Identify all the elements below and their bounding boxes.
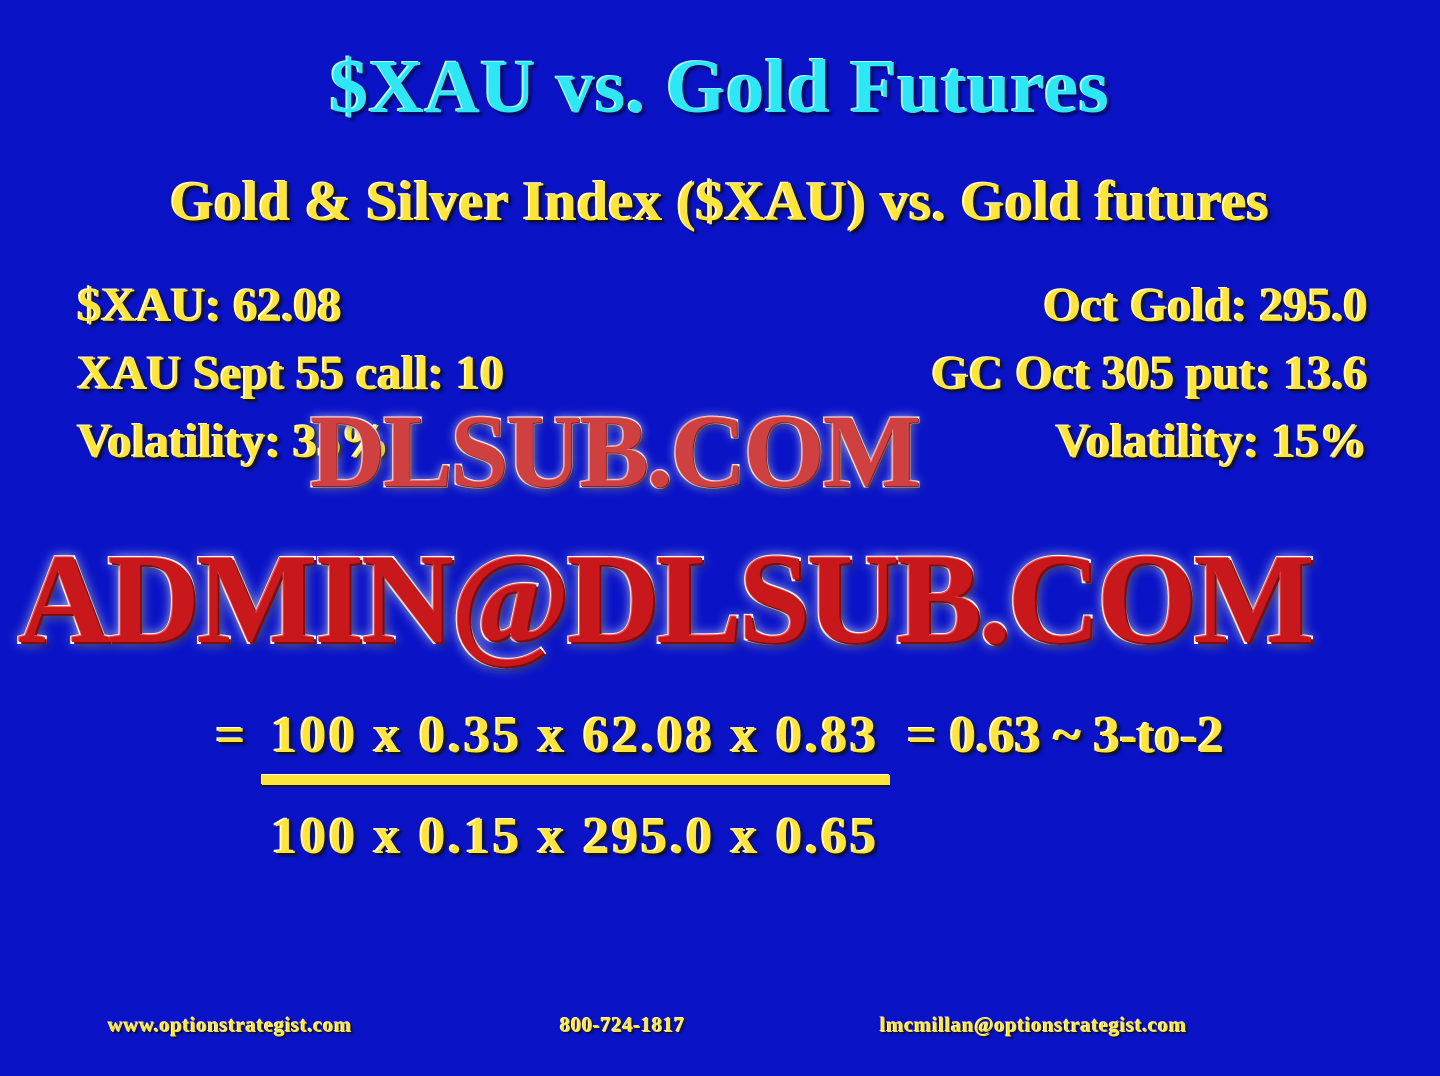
- table-row: XAU Sept 55 call: 10 GC Oct 305 put: 13.…: [78, 346, 1368, 414]
- slide-subtitle: Gold & Silver Index ($XAU) vs. Gold futu…: [0, 170, 1440, 234]
- quote-table: $XAU: 62.08 Oct Gold: 295.0 XAU Sept 55 …: [78, 278, 1368, 482]
- slide-title: $XAU vs. Gold Futures: [0, 44, 1440, 131]
- xau-call-cell: XAU Sept 55 call: 10: [78, 346, 505, 401]
- ratio-formula: = 100 x 0.35 x 62.08 x 0.83 100 x 0.15 x…: [0, 706, 1440, 866]
- gold-price-cell: Oct Gold: 295.0: [1044, 278, 1368, 333]
- xau-price-cell: $XAU: 62.08: [78, 278, 342, 333]
- watermark-email-outline: ADMIN@DLSUB.COM: [18, 526, 1312, 673]
- slide-footer: www.optionstrategist.com 800-724-1817 lm…: [0, 1013, 1440, 1038]
- table-row: $XAU: 62.08 Oct Gold: 295.0: [78, 278, 1368, 346]
- gold-volatility-cell: Volatility: 15%: [1056, 414, 1368, 469]
- formula-equals-left: =: [216, 706, 246, 765]
- table-row: Volatility: 35% Volatility: 15%: [78, 414, 1368, 482]
- formula-fraction: 100 x 0.35 x 62.08 x 0.83 100 x 0.15 x 2…: [262, 706, 890, 866]
- watermark-email: ADMIN@DLSUB.COM: [18, 526, 1312, 673]
- formula-result: = 0.63 ~ 3-to-2: [908, 706, 1225, 765]
- gold-put-cell: GC Oct 305 put: 13.6: [932, 346, 1368, 401]
- footer-phone: 800-724-1817: [560, 1013, 685, 1038]
- xau-volatility-cell: Volatility: 35%: [78, 414, 390, 469]
- footer-email[interactable]: lmcmillan@optionstrategist.com: [880, 1013, 1187, 1038]
- presentation-slide: $XAU vs. Gold Futures Gold & Silver Inde…: [0, 0, 1440, 1076]
- formula-numerator: 100 x 0.35 x 62.08 x 0.83: [262, 706, 890, 765]
- formula-denominator: 100 x 0.15 x 295.0 x 0.65: [262, 807, 890, 866]
- footer-website[interactable]: www.optionstrategist.com: [108, 1013, 352, 1038]
- fraction-bar: [262, 775, 890, 785]
